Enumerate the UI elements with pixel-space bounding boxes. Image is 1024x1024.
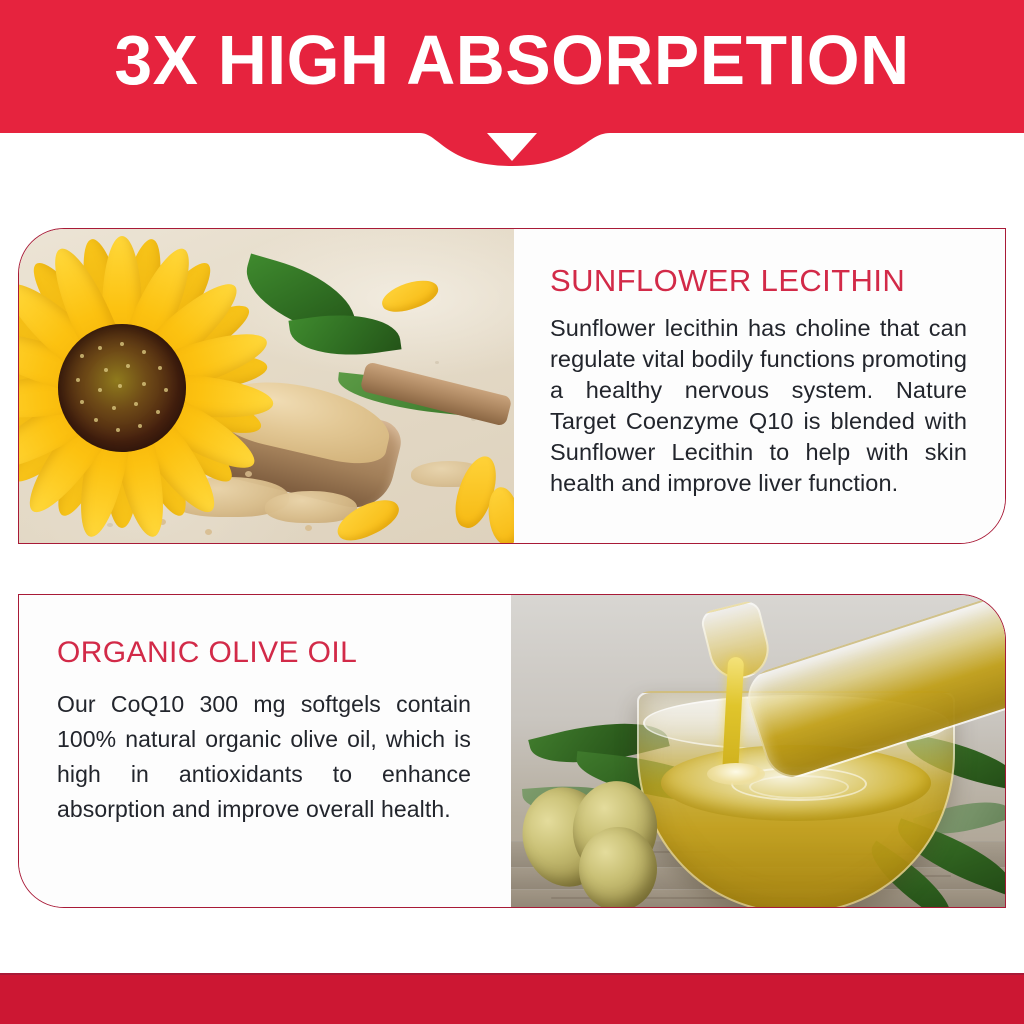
header-banner: 3X HIGH ABSORPETION xyxy=(0,0,1024,172)
sunflower-heading: SUNFLOWER LECITHIN xyxy=(550,263,967,299)
olive-heading: ORGANIC OLIVE OIL xyxy=(57,635,471,671)
olive-oil-scene xyxy=(511,595,1005,907)
card-organic-olive-oil: ORGANIC OLIVE OIL Our CoQ10 300 mg softg… xyxy=(18,594,1006,908)
oil-ripple xyxy=(749,775,849,799)
sunflower-head-icon xyxy=(19,229,287,543)
green-olive-icon xyxy=(579,827,657,907)
olive-body-text: Our CoQ10 300 mg softgels contain 100% n… xyxy=(57,687,471,827)
sunflower-and-lecithin-powder-scoop-photo xyxy=(19,229,514,543)
footer-bar xyxy=(0,973,1024,1024)
infographic-page: 3X HIGH ABSORPETION xyxy=(0,0,1024,1024)
sunflower-body-text: Sunflower lecithin has choline that can … xyxy=(550,313,967,499)
banner-title: 3X HIGH ABSORPETION xyxy=(15,22,1008,98)
olive-text-panel: ORGANIC OLIVE OIL Our CoQ10 300 mg softg… xyxy=(19,595,511,907)
sunflower-seed-disc xyxy=(58,324,186,452)
sunflower-text-panel: SUNFLOWER LECITHIN Sunflower lecithin ha… xyxy=(514,229,1005,543)
oil-splash xyxy=(707,763,765,785)
card-sunflower-lecithin: SUNFLOWER LECITHIN Sunflower lecithin ha… xyxy=(18,228,1006,544)
sunflower-scene xyxy=(19,229,514,543)
olive-oil-pouring-into-glass-bowl-photo xyxy=(511,595,1005,907)
